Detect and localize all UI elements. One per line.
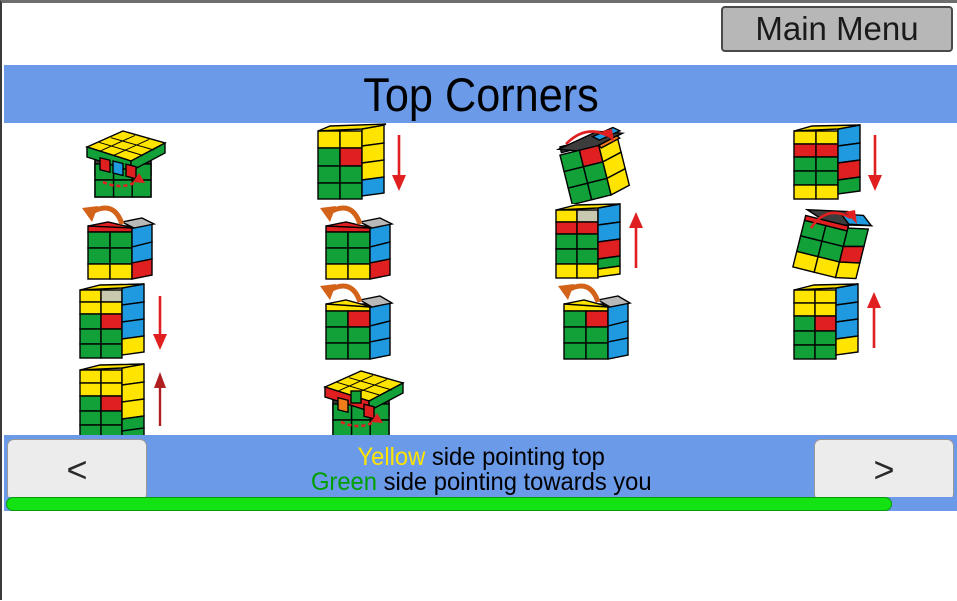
- cube-row: [4, 363, 957, 443]
- cube-illustration-tilted-left: [544, 122, 654, 204]
- rotation-arrow-icon: [82, 206, 122, 224]
- page-title-band: Top Corners: [4, 65, 957, 123]
- cube-step-10[interactable]: [242, 283, 480, 363]
- cube-illustration-front: [544, 202, 654, 284]
- progress-track[interactable]: [4, 497, 957, 511]
- cube-illustration-front: [782, 282, 892, 364]
- rotation-arrow-icon: [320, 206, 360, 224]
- cube-illustration-front: [306, 202, 416, 284]
- bottom-nav-bar: < Yellow side pointing top Green side po…: [4, 435, 957, 505]
- cube-illustration-top-rotate: [73, 123, 173, 203]
- cube-illustration-front: [306, 123, 416, 203]
- cube-row: [4, 283, 957, 363]
- direction-arrow-icon: [629, 212, 643, 268]
- progress-fill: [6, 497, 892, 511]
- cube-step-grid: [4, 123, 957, 433]
- cube-step-4[interactable]: [718, 123, 956, 203]
- cube-step-3[interactable]: [480, 123, 718, 203]
- cube-step-2[interactable]: [242, 123, 480, 203]
- direction-arrow-icon: [153, 296, 167, 350]
- cube-step-7[interactable]: [480, 203, 718, 283]
- rotation-arrow-icon: [320, 284, 360, 302]
- direction-arrow-icon: [867, 292, 881, 348]
- main-menu-button[interactable]: Main Menu: [721, 6, 953, 52]
- instruction-text: Yellow side pointing top Green side poin…: [154, 439, 809, 501]
- instruction-line-2: Green side pointing towards you: [311, 470, 652, 496]
- cube-step-1[interactable]: [4, 123, 242, 203]
- footer-blank-area: [4, 511, 957, 601]
- direction-arrow-icon: [392, 135, 406, 191]
- instruction-line-1: Yellow side pointing top: [358, 445, 605, 471]
- cube-illustration-front: [68, 362, 178, 444]
- direction-arrow-icon: [154, 372, 166, 426]
- cube-illustration-front: [782, 123, 892, 203]
- app-window: Main Menu Top Corners: [0, 0, 957, 600]
- cube-step-13[interactable]: [4, 363, 242, 443]
- instruction-line-2-highlight: Green: [311, 468, 377, 496]
- cube-illustration-top-rotate: [311, 363, 411, 443]
- cube-step-12[interactable]: [718, 283, 956, 363]
- instruction-line-2-rest: side pointing towards you: [377, 468, 652, 496]
- cube-illustration-front: [68, 202, 178, 284]
- cube-illustration-tilted-right: [781, 202, 893, 284]
- instruction-line-1-highlight: Yellow: [358, 443, 426, 471]
- cube-step-6[interactable]: [242, 203, 480, 283]
- previous-step-button[interactable]: <: [7, 439, 147, 501]
- rotation-arrow-icon: [558, 284, 598, 302]
- cube-row: [4, 203, 957, 283]
- top-bar: Main Menu: [2, 3, 957, 55]
- cube-step-5[interactable]: [4, 203, 242, 283]
- cube-step-8[interactable]: [718, 203, 956, 283]
- direction-arrow-icon: [868, 135, 882, 191]
- next-step-button[interactable]: >: [814, 439, 954, 501]
- page-title: Top Corners: [363, 71, 599, 118]
- cube-illustration-front: [306, 282, 416, 364]
- instruction-line-1-rest: side pointing top: [426, 443, 606, 471]
- cube-step-11[interactable]: [480, 283, 718, 363]
- cube-step-9[interactable]: [4, 283, 242, 363]
- cube-step-14[interactable]: [242, 363, 480, 443]
- cube-illustration-front: [68, 282, 178, 364]
- cube-row: [4, 123, 957, 203]
- cube-illustration-front: [544, 282, 654, 364]
